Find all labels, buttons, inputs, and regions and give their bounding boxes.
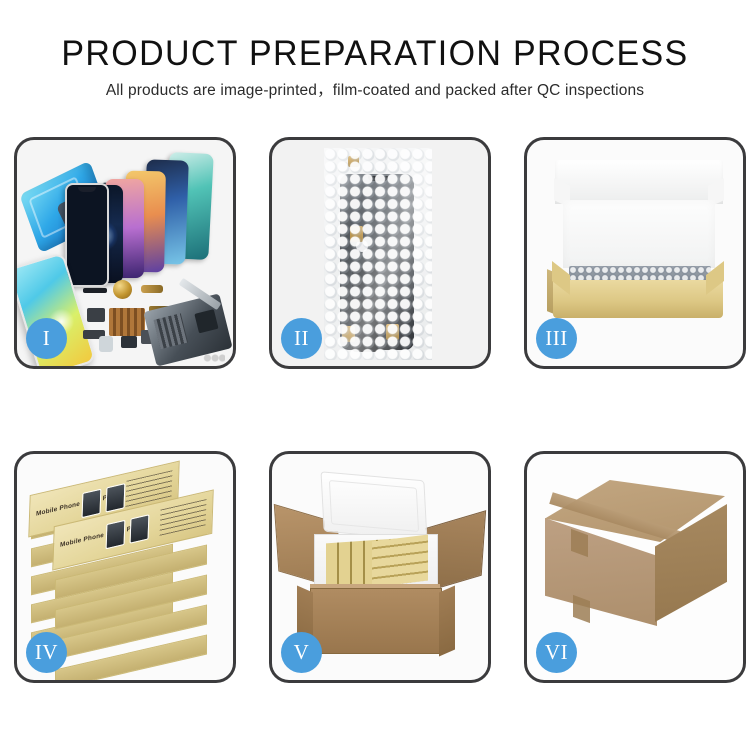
shipping-carton-body [310, 588, 442, 654]
plastic-sheen [324, 148, 432, 360]
process-step-panel-4: Mobile Phone Spare Parts Mobile Phone Sp… [14, 451, 236, 683]
flex-part-7-icon [121, 336, 137, 348]
step-badge-5: V [281, 632, 322, 673]
page-header: PRODUCT PREPARATION PROCESS All products… [0, 0, 750, 102]
flex-part-3-icon [87, 308, 105, 322]
screws-icon [203, 353, 225, 363]
flex-part-6-icon [99, 336, 113, 352]
step-badge-2: II [281, 318, 322, 359]
speaker-coil-icon [113, 280, 132, 299]
step-badge-3: III [536, 318, 577, 359]
step-badge-6: VI [536, 632, 577, 673]
flex-part-1-icon [83, 288, 107, 293]
process-step-panel-5: V [269, 451, 491, 683]
step-badge-4: IV [26, 632, 67, 673]
foam-sheet-icon [563, 200, 715, 268]
box-thumb-2a-icon [106, 520, 126, 550]
packed-retail-boxes-stack [372, 535, 428, 588]
process-step-panel-1: I [14, 137, 236, 369]
glass-panel-icon [65, 183, 109, 287]
page-subtitle: All products are image-printed，film-coat… [0, 80, 750, 102]
box-thumb-1a-icon [82, 489, 102, 519]
page-title: PRODUCT PREPARATION PROCESS [11, 34, 739, 74]
process-step-panel-3: III [524, 137, 746, 369]
box-thumb-2b-icon [130, 514, 150, 544]
box-spec-lines-2 [160, 499, 207, 536]
step-badge-1: I [26, 318, 67, 359]
process-step-panel-6: VI [524, 451, 746, 683]
flex-part-2-icon [141, 285, 163, 293]
process-step-panel-2: II [269, 137, 491, 369]
bubble-wrap-bag [324, 148, 432, 360]
box-thumb-1b-icon [106, 483, 126, 513]
foam-lid-icon [321, 471, 428, 541]
kraft-box-front [553, 280, 723, 318]
process-step-grid: I II III [14, 137, 746, 683]
box-lid-icon [555, 160, 723, 204]
chip-grid-icon [109, 308, 145, 336]
